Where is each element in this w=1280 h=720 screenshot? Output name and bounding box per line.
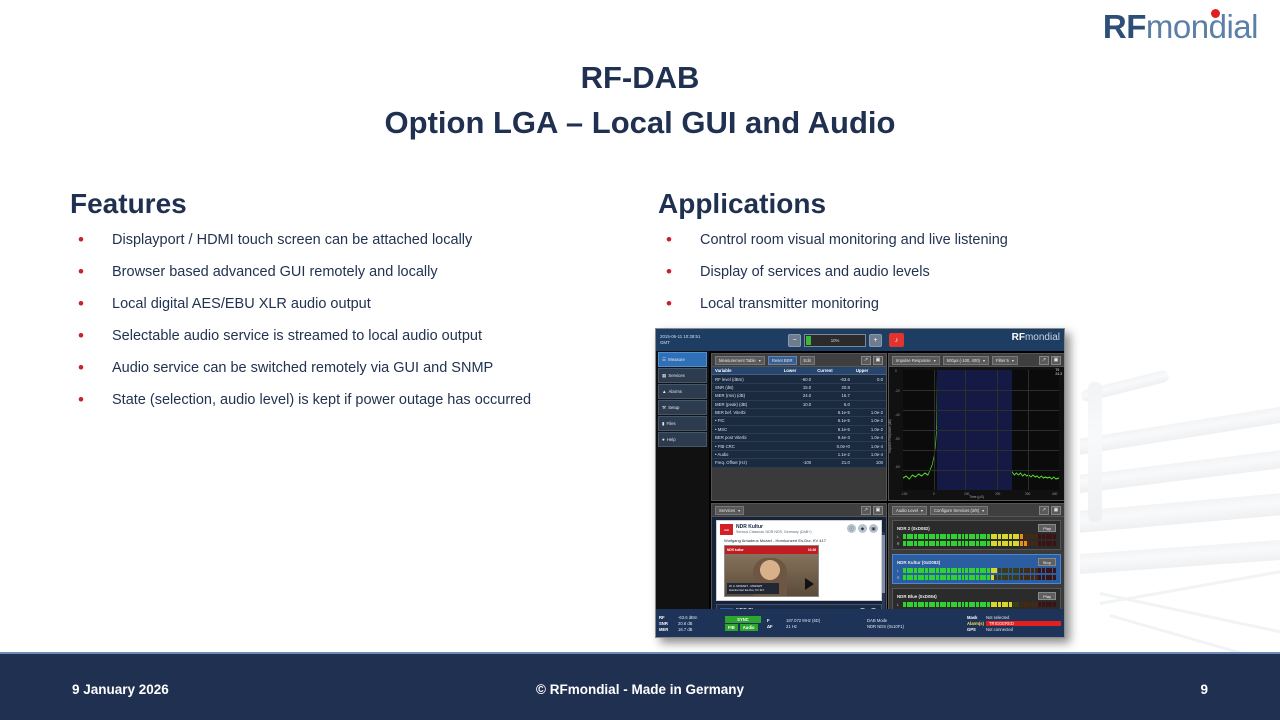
impulse-panel-actions: ↗ ▣ bbox=[1039, 356, 1061, 365]
device-gui-screenshot: 2015-06-11 10:28:51 GMT − 10% + ♪ RFmond… bbox=[655, 328, 1065, 638]
cell-upper: 100 bbox=[853, 459, 886, 467]
cell-upper: 1.0e-4 bbox=[853, 442, 886, 450]
expand-icon[interactable]: ↗ bbox=[861, 356, 871, 365]
meter-channel-label: L bbox=[897, 535, 901, 539]
status-alarm-key: Alarm(s) bbox=[967, 621, 983, 626]
status-snr-value: 20.8 dB bbox=[678, 621, 692, 626]
audio-channel-name: NDR 2 (0xD082) bbox=[897, 526, 930, 531]
impulse-response-select[interactable]: Impulse Response ▾ bbox=[892, 356, 940, 365]
impulse-ytick: -50 bbox=[895, 437, 900, 441]
table-row: Freq. Offset (Hz)-10021.0100 bbox=[712, 459, 886, 467]
status-mode-key: DAB Mode bbox=[867, 618, 961, 623]
meter-row: L bbox=[897, 534, 1056, 539]
cell-current: 20.8 bbox=[814, 383, 853, 391]
chevron-down-icon: ▾ bbox=[759, 358, 761, 363]
table-row: MER (rms) (dB)24.016.7 bbox=[712, 392, 886, 400]
device-top-bar: 2015-06-11 10:28:51 GMT − 10% + ♪ RFmond… bbox=[656, 329, 1064, 351]
cell-current: 6.1e-5 bbox=[814, 408, 853, 416]
impulse-ytick: -60 bbox=[895, 465, 900, 469]
features-list: Displayport / HDMI touch screen can be a… bbox=[70, 232, 640, 424]
cell-lower bbox=[781, 425, 815, 433]
fullscreen-icon[interactable]: ▣ bbox=[873, 506, 883, 515]
configure-services-button[interactable]: Configure Services (3/8) ▾ bbox=[930, 506, 988, 515]
table-row: • MSC6.1e-51.0e-2 bbox=[712, 425, 886, 433]
volume-minus-button[interactable]: − bbox=[788, 334, 801, 347]
cell-current: 6.1e-5 bbox=[814, 425, 853, 433]
tii-readout: TII 24.3 bbox=[1055, 368, 1062, 376]
cell-lower bbox=[781, 442, 815, 450]
cell-upper: 1.0e-4 bbox=[853, 450, 886, 458]
cell-lower bbox=[781, 417, 815, 425]
slideshow-time: 10:28 bbox=[808, 548, 816, 552]
cell-variable: • Audio bbox=[712, 450, 781, 458]
cell-lower: 15.0 bbox=[781, 383, 815, 391]
measurement-select-label: Measurement Table bbox=[719, 358, 756, 363]
list-item: Control room visual monitoring and live … bbox=[658, 232, 1088, 248]
level-meter bbox=[903, 568, 1056, 573]
device-status-bar: RF-63.6 dBm SNR20.8 dB MER16.7 dB SYNC F… bbox=[656, 609, 1064, 637]
status-badges: SYNC FIB Audio bbox=[722, 609, 764, 637]
service-slideshow-image[interactable]: NDR kultur 10:28 W. A. MOZART - MOZART H… bbox=[724, 545, 819, 597]
status-alarms: MaskNot selected Alarm(s)TRIGGERED GPSNo… bbox=[964, 609, 1064, 637]
col-variable: Variable bbox=[712, 367, 781, 375]
measurement-panel-actions: ↗ ▣ bbox=[861, 356, 883, 365]
device-logo: RFmondial bbox=[1012, 333, 1060, 343]
impulse-filter-label: Filter 5 bbox=[996, 358, 1009, 363]
sidebar-label: Alarms bbox=[669, 389, 682, 394]
audio-select-label: Audio Level bbox=[896, 508, 918, 513]
table-row: BER bef. Viterbi6.1e-51.0e-2 bbox=[712, 408, 886, 416]
status-delta-key: ΔF bbox=[767, 624, 783, 629]
volume-control[interactable]: − 10% + ♪ bbox=[788, 333, 904, 347]
slideshow-caption: W. A. MOZART - MOZART Hornkonzert Es-Dur… bbox=[727, 583, 779, 594]
edit-button[interactable]: Edit bbox=[800, 356, 815, 365]
status-rf-key: RF bbox=[659, 615, 675, 620]
slideshow-header: NDR kultur 10:28 bbox=[725, 546, 818, 554]
col-upper: Upper bbox=[853, 367, 886, 375]
cell-upper: 1.0e-2 bbox=[853, 425, 886, 433]
table-row: SNR (dB)15.020.8 bbox=[712, 383, 886, 391]
table-row: MER (peak) (dB)10.06.0 bbox=[712, 400, 886, 408]
table-row: RF level (dBm)-60.0-63.60.0 bbox=[712, 375, 886, 383]
service-info: NDR Kultur Serious Classical, NDR NDS, G… bbox=[736, 524, 812, 534]
status-mode-value: NDR NDS (0x10F1) bbox=[867, 624, 961, 629]
col-current: Current bbox=[814, 367, 853, 375]
list-item[interactable]: NDR Kultur (0xD083)StopLR bbox=[892, 554, 1061, 584]
list-item: Display of services and audio levels bbox=[658, 264, 1088, 280]
list-item[interactable]: ndr NDR Kultur Serious Classical, NDR ND… bbox=[716, 520, 882, 601]
impulse-plot-area bbox=[903, 370, 1059, 490]
cell-current: 21.0 bbox=[814, 459, 853, 467]
chart-icon: ☰ bbox=[662, 357, 666, 363]
sidebar-item-setup[interactable]: ⚒ Setup bbox=[658, 400, 707, 415]
service-header: ndr NDR Kultur Serious Classical, NDR ND… bbox=[720, 524, 878, 535]
cell-lower bbox=[781, 408, 815, 416]
page-title: RF-DAB Option LGA – Local GUI and Audio bbox=[0, 56, 1280, 146]
status-mask-key: Mask bbox=[967, 615, 983, 620]
cell-upper bbox=[853, 400, 886, 408]
play-button[interactable]: Play bbox=[1038, 524, 1056, 532]
measurement-table: Variable Lower Current Upper RF level (d… bbox=[712, 367, 886, 468]
volume-percent: 10% bbox=[831, 338, 840, 343]
sidebar-label: Files bbox=[667, 421, 676, 426]
audio-level-select[interactable]: Audio Level ▾ bbox=[892, 506, 927, 515]
cell-variable: • FIB CRC bbox=[712, 442, 781, 450]
cell-current: -63.6 bbox=[814, 375, 853, 383]
measurement-toolbar: Measurement Table ▾ Reset BER Edit ↗ ▣ bbox=[712, 354, 886, 367]
impulse-ytick: -40 bbox=[895, 413, 900, 417]
table-row: • FIB CRC0.0e+01.0e-4 bbox=[712, 442, 886, 450]
features-heading: Features bbox=[70, 188, 187, 220]
status-mer-key: MER bbox=[659, 627, 675, 632]
cell-upper: 1.0e-4 bbox=[853, 434, 886, 442]
cell-variable: RF level (dBm) bbox=[712, 375, 781, 383]
play-button[interactable]: Play bbox=[1038, 592, 1056, 600]
volume-plus-button[interactable]: + bbox=[869, 334, 882, 347]
meter-row: L bbox=[897, 568, 1056, 573]
slide: RFmondial RF-DAB Option LGA – Local GUI … bbox=[0, 0, 1280, 720]
impulse-response-plot: Impulse Response (dB) 0 bbox=[889, 367, 1064, 500]
cell-current: 1.1e-2 bbox=[814, 450, 853, 458]
cell-variable: MER (rms) (dB) bbox=[712, 392, 781, 400]
stop-button[interactable]: Stop bbox=[1038, 558, 1056, 566]
cell-lower: -60.0 bbox=[781, 375, 815, 383]
footer-copyright: © RFmondial - Made in Germany bbox=[0, 682, 1280, 697]
sidebar-item-alarms[interactable]: ▲ Alarms bbox=[658, 384, 707, 399]
title-line-1: RF-DAB bbox=[0, 56, 1280, 101]
chevron-down-icon: ▾ bbox=[983, 358, 985, 363]
fullscreen-icon[interactable]: ▣ bbox=[873, 356, 883, 365]
cell-variable: BER post Viterbi bbox=[712, 434, 781, 442]
status-mer-value: 16.7 dB bbox=[678, 627, 692, 632]
chevron-down-icon: ▾ bbox=[934, 358, 936, 363]
status-gps-key: GPS bbox=[967, 627, 983, 632]
list-item: State (selection, audio level) is kept i… bbox=[70, 392, 640, 408]
meter-channel-label: L bbox=[897, 603, 901, 607]
status-gps-value: Not connected bbox=[986, 627, 1013, 632]
table-row: • Audio1.1e-21.0e-4 bbox=[712, 450, 886, 458]
level-meter bbox=[903, 602, 1056, 607]
tower-watermark-image bbox=[1080, 352, 1280, 652]
impulse-filter-select[interactable]: Filter 5 ▾ bbox=[992, 356, 1018, 365]
file-icon: ▮ bbox=[662, 421, 665, 427]
cell-current: 16.7 bbox=[814, 392, 853, 400]
status-snr-key: SNR bbox=[659, 621, 675, 626]
list-item[interactable]: NDR 2 (0xD082)PlayLR bbox=[892, 520, 1061, 550]
help-icon: ● bbox=[662, 437, 665, 442]
fib-badge: FIB bbox=[725, 624, 738, 631]
cell-lower: -100 bbox=[781, 459, 815, 467]
sidebar-item-help[interactable]: ● Help bbox=[658, 432, 707, 447]
clock-zone: GMT bbox=[660, 340, 700, 346]
cell-current: 6.0 bbox=[814, 400, 853, 408]
rfmondial-logo: RFmondial bbox=[1103, 10, 1258, 43]
status-badge: TRIGGERED bbox=[986, 621, 1061, 626]
device-logo-rf: RF bbox=[1012, 332, 1025, 343]
list-item: Audio service can be switched remotely v… bbox=[70, 360, 640, 376]
audio-channel-header: NDR Kultur (0xD083)Stop bbox=[897, 558, 1056, 566]
sidebar-item-measure[interactable]: ☰ Measure bbox=[658, 352, 707, 367]
slide-footer: 9 January 2026 © RFmondial - Made in Ger… bbox=[0, 652, 1280, 720]
list-item: Browser based advanced GUI remotely and … bbox=[70, 264, 640, 280]
measurement-table-body: RF level (dBm)-60.0-63.60.0SNR (dB)15.02… bbox=[712, 375, 886, 467]
meter-row: L bbox=[897, 602, 1056, 607]
status-mode: DAB Mode NDR NDS (0x10F1) bbox=[864, 609, 964, 637]
impulse-x-axis-label: Time (µS) bbox=[889, 495, 1064, 499]
cell-current: 0.0e+0 bbox=[814, 442, 853, 450]
audio-channel-name: NDR Kultur (0xD083) bbox=[897, 560, 940, 565]
audio-toolbar: Audio Level ▾ Configure Services (3/8) ▾… bbox=[889, 504, 1064, 517]
cell-variable: BER bef. Viterbi bbox=[712, 408, 781, 416]
chevron-down-icon: ▾ bbox=[738, 508, 740, 513]
table-header-row: Variable Lower Current Upper bbox=[712, 367, 886, 375]
services-toolbar: Services ▾ ↗ ▣ bbox=[712, 504, 886, 517]
tii-value: 24.3 bbox=[1055, 372, 1062, 376]
services-select-label: Services bbox=[719, 508, 735, 513]
status-levels: RF-63.6 dBm SNR20.8 dB MER16.7 dB bbox=[656, 609, 722, 637]
meter-channel-label: R bbox=[897, 542, 901, 546]
sidebar-label: Measure bbox=[668, 357, 685, 362]
device-logo-mondial: mondial bbox=[1025, 332, 1060, 343]
sidebar-item-files[interactable]: ▮ Files bbox=[658, 416, 707, 431]
expand-icon[interactable]: ↗ bbox=[1039, 506, 1049, 515]
meter-row: R bbox=[897, 541, 1056, 546]
chevron-down-icon: ▾ bbox=[1012, 358, 1014, 363]
audio-channel-header: NDR Blue (0xD084)Play bbox=[897, 592, 1056, 600]
impulse-select-label: Impulse Response bbox=[896, 358, 931, 363]
services-panel-actions: ↗ ▣ bbox=[861, 506, 883, 515]
status-delta-value: 21 Hz bbox=[786, 624, 797, 629]
sync-badge: SYNC bbox=[725, 616, 761, 623]
audio-badge: Audio bbox=[740, 624, 758, 631]
applications-list: Control room visual monitoring and live … bbox=[658, 232, 1088, 328]
status-frequency: F187.072 MHz (6D) ΔF21 Hz bbox=[764, 609, 864, 637]
sidebar-label: Help bbox=[667, 437, 676, 442]
logo-rf: RF bbox=[1103, 8, 1146, 45]
level-meter bbox=[903, 575, 1056, 580]
meter-channel-label: L bbox=[897, 569, 901, 573]
meter-channel-label: R bbox=[897, 576, 901, 580]
wrench-icon: ⚒ bbox=[662, 405, 666, 411]
list-icon: ▦ bbox=[662, 373, 666, 379]
fullscreen-icon[interactable]: ▣ bbox=[1051, 506, 1061, 515]
applications-heading: Applications bbox=[658, 188, 826, 220]
device-clock: 2015-06-11 10:28:51 GMT bbox=[660, 334, 700, 346]
audio-channel-name: NDR Blue (0xD084) bbox=[897, 594, 937, 599]
logo-mondial: mondial bbox=[1146, 8, 1258, 45]
page-number: 9 bbox=[1200, 682, 1208, 697]
cell-current: 9.4e-3 bbox=[814, 434, 853, 442]
col-lower: Lower bbox=[781, 367, 815, 375]
status-freq-value: 187.072 MHz (6D) bbox=[786, 618, 820, 623]
level-meter bbox=[903, 534, 1056, 539]
list-item: Local transmitter monitoring bbox=[658, 296, 1088, 312]
cell-lower bbox=[781, 450, 815, 458]
impulse-toolbar: Impulse Response ▾ 500µs (-100, 400) ▾ F… bbox=[889, 354, 1064, 367]
status-freq-key: F bbox=[767, 618, 783, 623]
cell-variable: Freq. Offset (Hz) bbox=[712, 459, 781, 467]
station-logo-icon: ndr bbox=[720, 524, 733, 535]
service-actions: ⓘ ◆ ▣ bbox=[847, 524, 878, 533]
cell-upper: 0.0 bbox=[853, 375, 886, 383]
cell-variable: SNR (dB) bbox=[712, 383, 781, 391]
cell-lower: 24.0 bbox=[781, 392, 815, 400]
measurement-table-select[interactable]: Measurement Table ▾ bbox=[715, 356, 765, 365]
expand-icon[interactable]: ↗ bbox=[861, 506, 871, 515]
table-row: • FIC6.1e-51.0e-2 bbox=[712, 417, 886, 425]
sidebar-label: Services bbox=[668, 373, 684, 378]
scrollbar-thumb[interactable] bbox=[882, 535, 885, 593]
reset-ber-button[interactable]: Reset BER bbox=[768, 356, 797, 365]
services-select[interactable]: Services ▾ bbox=[715, 506, 744, 515]
list-item: Displayport / HDMI touch screen can be a… bbox=[70, 232, 640, 248]
list-item: Selectable audio service is streamed to … bbox=[70, 328, 640, 344]
image-icon[interactable]: ▣ bbox=[869, 524, 878, 533]
table-row: BER post Viterbi9.4e-31.0e-4 bbox=[712, 434, 886, 442]
measurement-table-panel: Measurement Table ▾ Reset BER Edit ↗ ▣ V… bbox=[711, 353, 887, 501]
list-item: Local digital AES/EBU XLR audio output bbox=[70, 296, 640, 312]
impulse-y-axis-label: Impulse Response (dB) bbox=[888, 419, 892, 452]
cell-variable: • FIC bbox=[712, 417, 781, 425]
status-rf-value: -63.6 dBm bbox=[678, 615, 697, 620]
bell-icon: ▲ bbox=[662, 389, 667, 394]
meter-row: R bbox=[897, 575, 1056, 580]
sidebar-item-services[interactable]: ▦ Services bbox=[658, 368, 707, 383]
impulse-ytick: -20 bbox=[895, 389, 900, 393]
expand-icon[interactable]: ↗ bbox=[1039, 356, 1049, 365]
cell-variable: MER (peak) (dB) bbox=[712, 400, 781, 408]
impulse-range-select[interactable]: 500µs (-100, 400) ▾ bbox=[943, 356, 989, 365]
chevron-down-icon: ▾ bbox=[982, 508, 984, 513]
info-icon[interactable]: ⓘ bbox=[847, 524, 856, 533]
play-icon[interactable] bbox=[805, 578, 814, 590]
volume-fill bbox=[806, 336, 811, 345]
chevron-down-icon: ▾ bbox=[921, 508, 923, 513]
status-mask-value: Not selected bbox=[986, 615, 1009, 620]
level-meter bbox=[903, 541, 1056, 546]
cell-upper bbox=[853, 392, 886, 400]
cell-lower: 10.0 bbox=[781, 400, 815, 408]
cell-upper bbox=[853, 383, 886, 391]
cell-upper: 1.0e-2 bbox=[853, 417, 886, 425]
volume-slider[interactable]: 10% bbox=[804, 334, 866, 347]
fullscreen-icon[interactable]: ▣ bbox=[1051, 356, 1061, 365]
impulse-range-label: 500µs (-100, 400) bbox=[947, 358, 980, 363]
cell-current: 6.1e-5 bbox=[814, 417, 853, 425]
title-line-2: Option LGA – Local GUI and Audio bbox=[0, 101, 1280, 146]
shield-icon[interactable]: ◆ bbox=[858, 524, 867, 533]
impulse-response-panel: Impulse Response ▾ 500µs (-100, 400) ▾ F… bbox=[888, 353, 1065, 501]
sidebar-label: Setup bbox=[668, 405, 679, 410]
speaker-icon[interactable]: ♪ bbox=[889, 333, 904, 347]
audio-panel-actions: ↗ ▣ bbox=[1039, 506, 1061, 515]
audio-channel-header: NDR 2 (0xD082)Play bbox=[897, 524, 1056, 532]
cell-variable: • MSC bbox=[712, 425, 781, 433]
service-now-playing: Wolfgang Amadeus Mozart - Hornkonzert Es… bbox=[724, 538, 878, 543]
cell-upper: 1.0e-2 bbox=[853, 408, 886, 416]
device-sidebar: ☰ Measure ▦ Services ▲ Alarms ⚒ Setup ▮ … bbox=[656, 351, 709, 609]
slideshow-station: NDR kultur bbox=[727, 548, 744, 552]
cell-lower bbox=[781, 434, 815, 442]
service-sub: Serious Classical, NDR NDS, Germany (DAB… bbox=[736, 530, 812, 534]
impulse-ytick: 0 bbox=[895, 369, 897, 373]
configure-label: Configure Services (3/8) bbox=[934, 508, 979, 513]
logo-red-dot-icon bbox=[1211, 9, 1220, 18]
